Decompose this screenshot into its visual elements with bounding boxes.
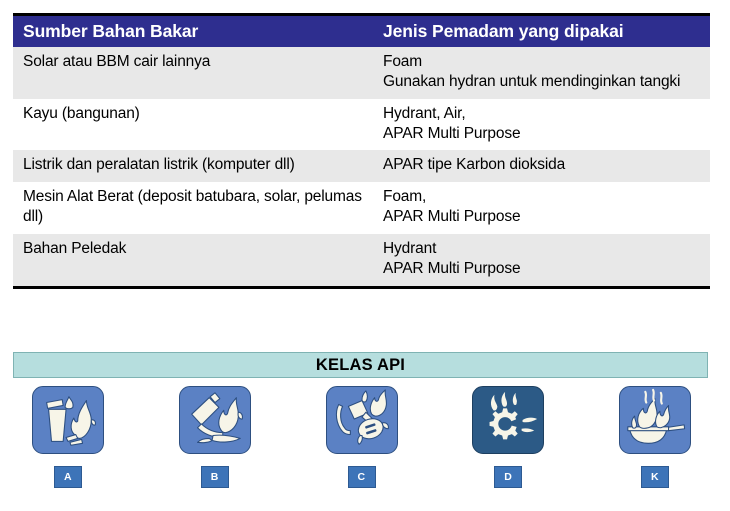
table-header: Sumber Bahan Bakar Jenis Pemadam yang di… <box>13 15 710 48</box>
fire-class-item-a: A <box>13 386 123 488</box>
fire-class-icon-strip: A B <box>13 386 710 488</box>
table-row: Mesin Alat Berat (deposit batubara, sola… <box>13 182 710 234</box>
trash-can-fire-icon <box>32 386 104 454</box>
cell-fuel-source: Bahan Peledak <box>13 234 372 287</box>
cell-extinguisher-type: Foam Gunakan hydran untuk mendinginkan t… <box>372 47 710 99</box>
table-body: Solar atau BBM cair lainnya Foam Gunakan… <box>13 47 710 287</box>
table-row: Bahan Peledak Hydrant APAR Multi Purpose <box>13 234 710 287</box>
kelas-api-title: KELAS API <box>316 356 405 375</box>
cell-extinguisher-type: Hydrant APAR Multi Purpose <box>372 234 710 287</box>
column-header-fuel-source: Sumber Bahan Bakar <box>13 15 372 48</box>
fire-class-item-c: C <box>307 386 417 488</box>
cell-text: Foam Gunakan hydran untuk mendinginkan t… <box>383 52 702 92</box>
cell-text: Hydrant APAR Multi Purpose <box>383 239 702 279</box>
cell-fuel-source: Listrik dan peralatan listrik (komputer … <box>13 150 372 182</box>
fire-class-badge-d: D <box>494 466 522 488</box>
fire-class-badge-c: C <box>348 466 376 488</box>
fire-class-item-d: D <box>453 386 563 488</box>
cell-extinguisher-type: Foam, APAR Multi Purpose <box>372 182 710 234</box>
cell-text: Hydrant, Air, APAR Multi Purpose <box>383 104 702 144</box>
fire-extinguisher-table-container: Sumber Bahan Bakar Jenis Pemadam yang di… <box>13 13 710 289</box>
fire-class-item-b: B <box>160 386 270 488</box>
cell-extinguisher-type: Hydrant, Air, APAR Multi Purpose <box>372 99 710 151</box>
cell-extinguisher-type: APAR tipe Karbon dioksida <box>372 150 710 182</box>
table-row: Solar atau BBM cair lainnya Foam Gunakan… <box>13 47 710 99</box>
table-row: Kayu (bangunan) Hydrant, Air, APAR Multi… <box>13 99 710 151</box>
column-header-extinguisher-type: Jenis Pemadam yang dipakai <box>372 15 710 48</box>
cell-text: Kayu (bangunan) <box>23 104 364 124</box>
cell-text: Mesin Alat Berat (deposit batubara, sola… <box>23 187 364 227</box>
cell-fuel-source: Mesin Alat Berat (deposit batubara, sola… <box>13 182 372 234</box>
cell-text: Foam, APAR Multi Purpose <box>383 187 702 227</box>
cell-text: Bahan Peledak <box>23 239 364 259</box>
fire-class-badge-a: A <box>54 466 82 488</box>
kelas-api-banner: KELAS API <box>13 352 708 378</box>
cell-text: APAR tipe Karbon dioksida <box>383 155 702 175</box>
fire-extinguisher-table: Sumber Bahan Bakar Jenis Pemadam yang di… <box>13 13 710 289</box>
gear-metal-fire-icon <box>472 386 544 454</box>
electric-plug-fire-icon <box>326 386 398 454</box>
table-row: Listrik dan peralatan listrik (komputer … <box>13 150 710 182</box>
cell-fuel-source: Kayu (bangunan) <box>13 99 372 151</box>
frying-pan-fire-icon <box>619 386 691 454</box>
fuel-can-fire-icon <box>179 386 251 454</box>
cell-fuel-source: Solar atau BBM cair lainnya <box>13 47 372 99</box>
fire-class-badge-k: K <box>641 466 669 488</box>
table-header-row: Sumber Bahan Bakar Jenis Pemadam yang di… <box>13 15 710 48</box>
cell-text: Listrik dan peralatan listrik (komputer … <box>23 155 364 175</box>
fire-class-badge-b: B <box>201 466 229 488</box>
fire-class-item-k: K <box>600 386 710 488</box>
cell-text: Solar atau BBM cair lainnya <box>23 52 364 72</box>
